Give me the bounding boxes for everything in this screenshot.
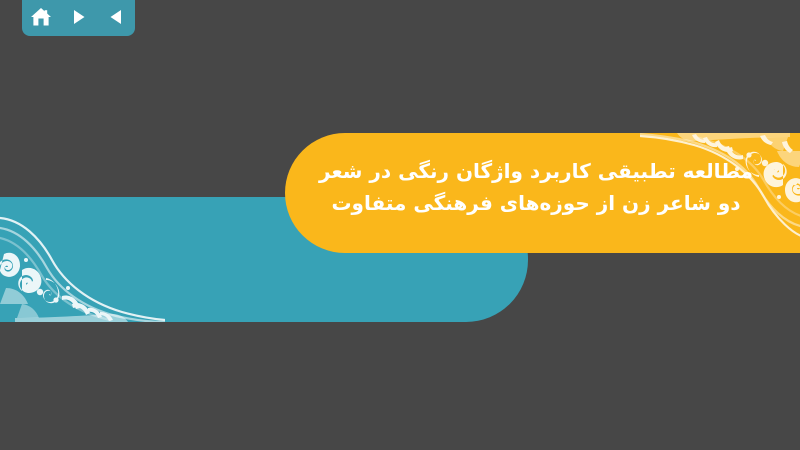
title-line-1: مطالعه تطبیقی کاربرد واژگان رنگی در شعر: [303, 155, 769, 187]
slide-title: مطالعه تطبیقی کاربرد واژگان رنگی در شعر …: [285, 155, 800, 219]
orange-title-panel: مطالعه تطبیقی کاربرد واژگان رنگی در شعر …: [285, 133, 800, 253]
title-line-2: دو شاعر زن از حوزه‌های فرهنگی متفاوت: [303, 187, 769, 219]
home-icon: [30, 7, 52, 27]
triangle-right-icon: [70, 8, 88, 26]
home-button[interactable]: [27, 4, 55, 30]
teal-arabesque-ornament: [0, 204, 165, 322]
navigation-bar: [22, 0, 135, 36]
slide-canvas: مطالعه تطبیقی کاربرد واژگان رنگی در شعر …: [0, 0, 800, 450]
forward-button[interactable]: [65, 4, 93, 30]
back-button[interactable]: [102, 4, 130, 30]
triangle-left-icon: [107, 8, 125, 26]
